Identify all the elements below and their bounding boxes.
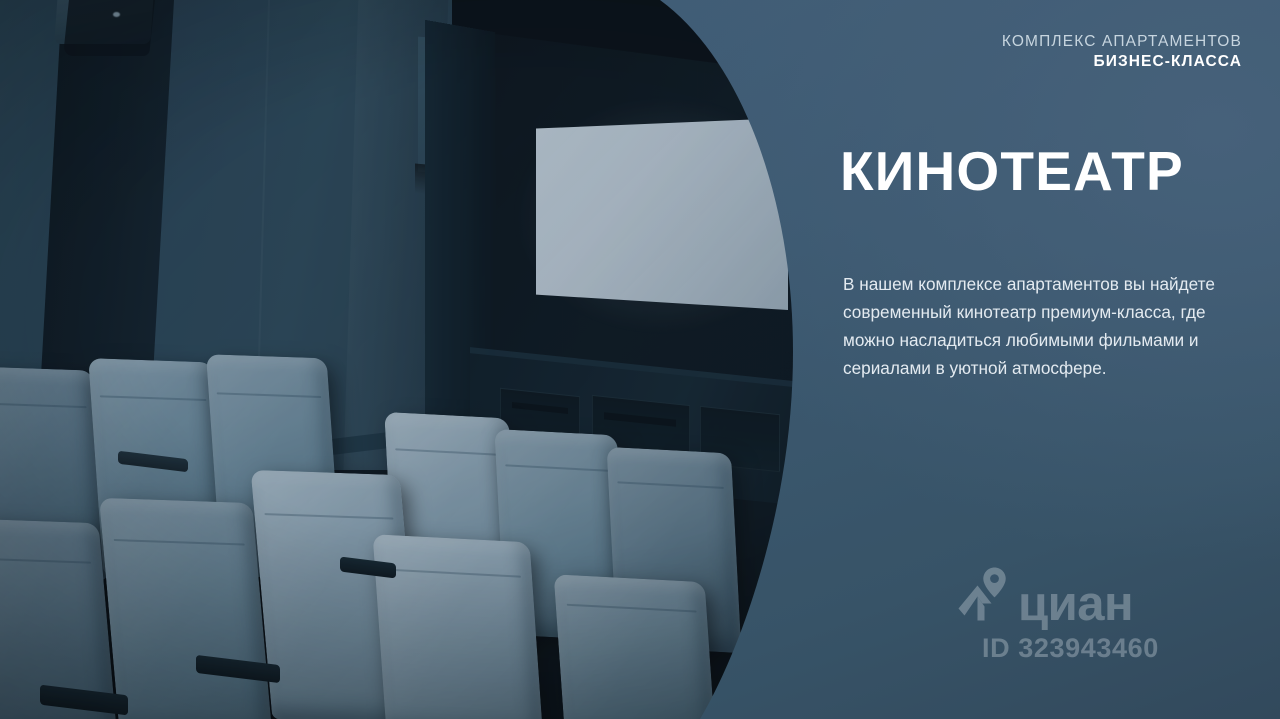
projection-screen xyxy=(536,118,788,310)
ceiling-projector-lens-icon xyxy=(113,12,120,17)
cinema-seat xyxy=(373,534,544,719)
header-eyebrow-line1: КОМПЛЕКС АПАРТАМЕНТОВ xyxy=(1002,32,1242,52)
ceiling-projector-shadow xyxy=(63,0,155,56)
header-eyebrow: КОМПЛЕКС АПАРТАМЕНТОВ БИЗНЕС-КЛАССА xyxy=(1002,32,1242,73)
cinema-seat xyxy=(99,498,273,719)
description-text: В нашем комплексе апартаментов вы найдет… xyxy=(843,271,1253,382)
cinema-seat xyxy=(554,574,717,719)
promo-slide: КОМПЛЕКС АПАРТАМЕНТОВ БИЗНЕС-КЛАССА КИНО… xyxy=(0,0,1280,719)
header-eyebrow-line2: БИЗНЕС-КЛАССА xyxy=(1002,52,1242,72)
page-title: КИНОТЕАТР xyxy=(840,144,1184,199)
